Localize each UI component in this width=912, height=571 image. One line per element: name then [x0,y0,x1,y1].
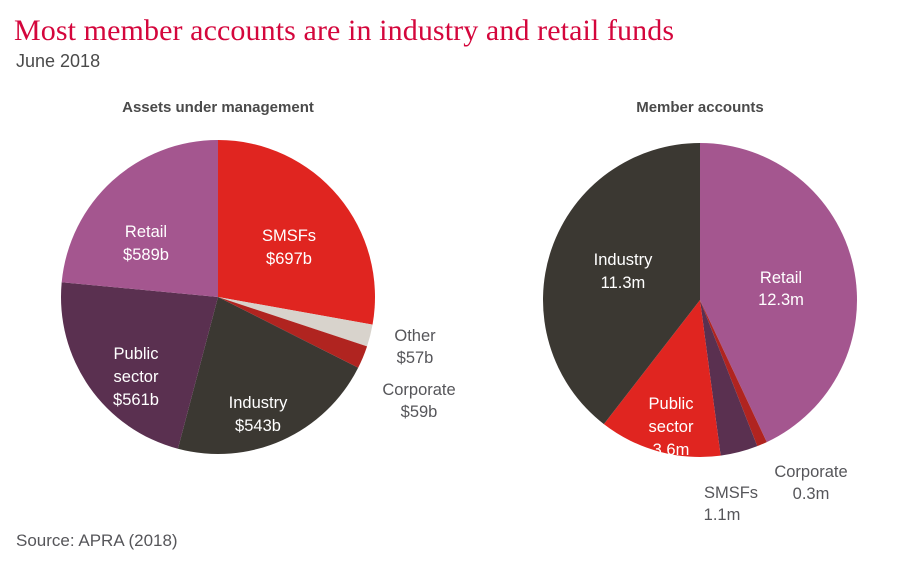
pie-label-assets-retail-name: Retail [125,223,167,241]
pie-label-assets-public-sector: Public sector $561b [113,345,159,409]
pie-label-members-corporate: Corporate 0.3m [774,463,847,503]
pie-label-assets-other-name: Other [394,327,436,345]
pie-label-assets-smsfs-name: SMSFs [262,227,316,245]
pie-chart-members: Industry 11.3m Retail 12.3m Public secto… [543,143,857,524]
pie-label-assets-corporate-value: $59b [401,403,438,421]
source-note: Source: APRA (2018) [16,531,178,551]
pie-label-members-industry-name: Industry [594,251,653,269]
pie-label-assets-retail-value: $589b [123,246,169,264]
pie-label-members-corporate-value: 0.3m [793,485,830,503]
pie-label-assets-corporate: Corporate $59b [382,381,455,421]
pie-label-assets-industry-name: Industry [229,394,288,412]
pie-label-members-retail-name: Retail [760,269,802,287]
pie-label-members-public-name2: sector [649,418,694,436]
pie-label-members-public-sector: Public sector 3.6m [649,395,694,459]
pie-label-members-smsfs-value: 1.1m [704,506,741,524]
pie-label-assets-public-name2: sector [114,368,159,386]
pie-label-assets-public-value: $561b [113,391,159,409]
pie-label-assets-industry-value: $543b [235,417,281,435]
pie-label-assets-smsfs-value: $697b [266,250,312,268]
pie-slice-assets-retail[interactable] [62,140,218,297]
pie-label-members-smsfs-name: SMSFs [704,484,758,502]
pie-label-members-corporate-name: Corporate [774,463,847,481]
pie-label-assets-corporate-name: Corporate [382,381,455,399]
pie-label-assets-other: Other $57b [394,327,436,367]
pie-label-assets-other-value: $57b [397,349,434,367]
pie-label-assets-public-name1: Public [114,345,159,363]
pie-label-members-public-name1: Public [649,395,694,413]
pie-label-members-smsfs: SMSFs 1.1m [704,484,758,524]
pie-label-members-public-value: 3.6m [653,441,690,459]
pie-label-members-retail-value: 12.3m [758,291,804,309]
pie-chart-assets: SMSFs $697b Retail $589b Public sector $… [61,140,456,454]
pie-charts-canvas: SMSFs $697b Retail $589b Public sector $… [0,0,912,571]
pie-label-members-industry-value: 11.3m [601,274,646,292]
